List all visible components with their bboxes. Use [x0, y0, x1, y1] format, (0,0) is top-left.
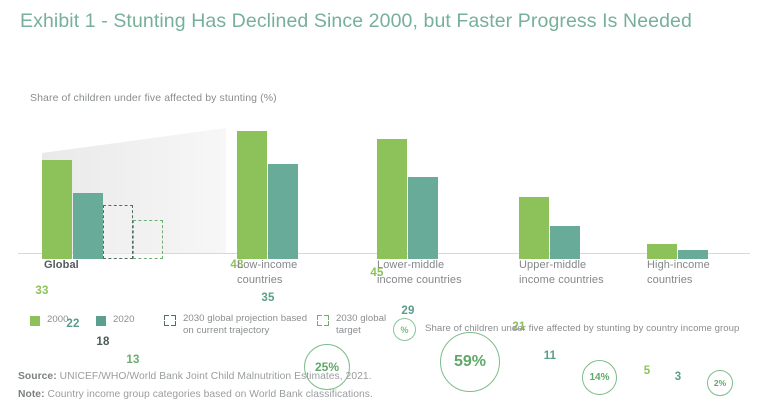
bar-value-low-income-2020: 35: [246, 292, 290, 304]
note-line: Note: Country income group categories ba…: [18, 386, 748, 404]
page-title: Exhibit 1 - Stunting Has Declined Since …: [20, 8, 720, 34]
source-text: UNICEF/WHO/World Bank Joint Child Malnut…: [57, 371, 372, 382]
category-label-high-income-line2: countries: [647, 273, 710, 288]
category-label-lower-middle-income: Lower-middle income countries: [377, 258, 462, 287]
chart-subtitle: Share of children under five affected by…: [30, 92, 277, 104]
bar-low-income-2020[interactable]: [268, 164, 298, 259]
chart-plot-area: 33 22 18 13 48 35 25% 45 29 59%: [0, 110, 768, 260]
category-label-global: Global: [44, 258, 79, 273]
bar-global-projection[interactable]: [103, 205, 133, 259]
bar-value-global-2000: 33: [20, 285, 64, 297]
chart-legend: 2000 2020 2030 global projection based o…: [30, 312, 760, 346]
category-label-lower-middle-line2: income countries: [377, 273, 462, 288]
percent-badge-icon: %: [393, 318, 416, 341]
bar-high-income-2000[interactable]: [647, 244, 677, 259]
source-label: Source:: [18, 371, 57, 382]
legend-swatch-2020-icon: [96, 316, 106, 326]
legend-item-2000[interactable]: 2000: [30, 314, 69, 326]
legend-dashed-box-projection-icon: [164, 315, 176, 326]
bar-upper-middle-2000[interactable]: [519, 197, 549, 259]
bar-global-2020[interactable]: [73, 193, 103, 259]
exhibit-chart-page: Exhibit 1 - Stunting Has Declined Since …: [0, 0, 768, 416]
legend-label-2000: 2000: [47, 314, 69, 326]
note-label: Note:: [18, 389, 45, 400]
legend-item-share-badge[interactable]: % Share of children under five affected …: [393, 318, 763, 341]
legend-item-2020[interactable]: 2020: [96, 314, 135, 326]
bar-global-2000[interactable]: [42, 160, 72, 259]
chart-footer: Source: UNICEF/WHO/World Bank Joint Chil…: [18, 368, 748, 403]
category-label-upper-middle-line2: income countries: [519, 273, 604, 288]
note-text: Country income group categories based on…: [45, 389, 373, 400]
category-label-low-income-line2: countries: [237, 273, 297, 288]
bar-low-income-2000[interactable]: [237, 131, 267, 259]
bar-upper-middle-2020[interactable]: [550, 226, 580, 259]
legend-dashed-box-target-icon: [317, 315, 329, 326]
category-label-low-income: Low-income countries: [237, 258, 297, 287]
bar-global-target[interactable]: [133, 220, 163, 259]
legend-label-share-badge: Share of children under five affected by…: [425, 323, 739, 335]
category-label-lower-middle-line1: Lower-middle: [377, 258, 462, 273]
legend-label-projection: 2030 global projection based on current …: [183, 313, 314, 338]
legend-item-projection[interactable]: 2030 global projection based on current …: [164, 313, 314, 338]
category-label-global-line1: Global: [44, 258, 79, 273]
bar-value-global-target: 13: [111, 354, 155, 366]
bar-value-upper-middle-2020: 11: [528, 350, 572, 362]
category-label-upper-middle-line1: Upper-middle: [519, 258, 604, 273]
bar-lower-middle-2000[interactable]: [377, 139, 407, 259]
category-label-high-income: High-income countries: [647, 258, 710, 287]
source-line: Source: UNICEF/WHO/World Bank Joint Chil…: [18, 368, 748, 386]
category-label-low-income-line1: Low-income: [237, 258, 297, 273]
category-label-upper-middle-income: Upper-middle income countries: [519, 258, 604, 287]
bar-lower-middle-2020[interactable]: [408, 177, 438, 259]
legend-swatch-2000-icon: [30, 316, 40, 326]
legend-label-2020: 2020: [113, 314, 135, 326]
category-label-high-income-line1: High-income: [647, 258, 710, 273]
